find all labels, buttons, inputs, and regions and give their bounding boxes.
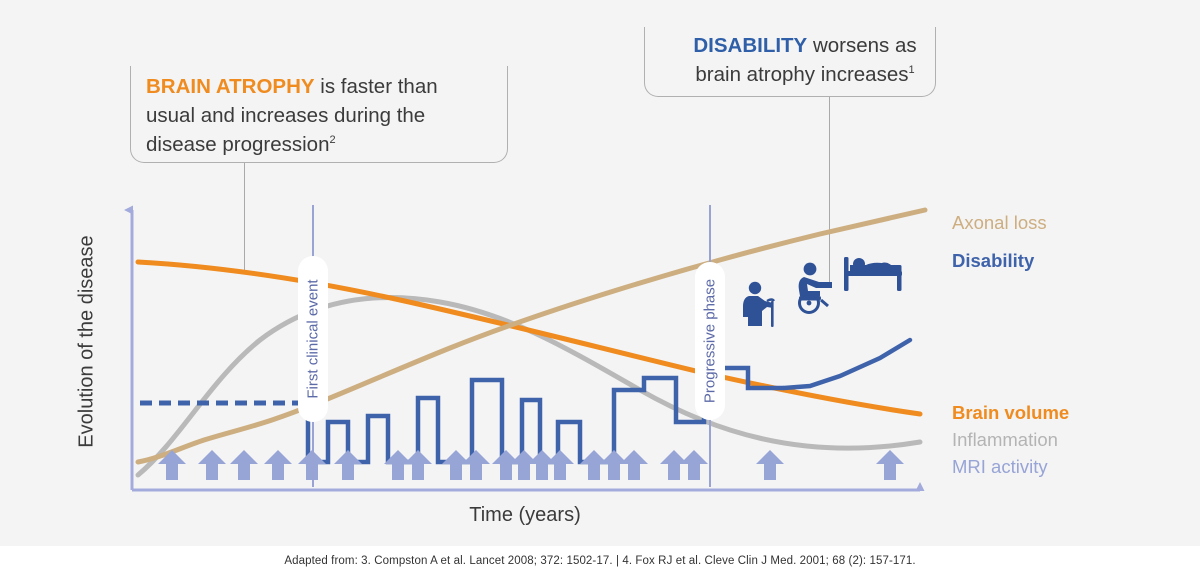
mri-arrow	[510, 450, 538, 480]
mri-arrow	[680, 450, 708, 480]
footer-bar: Adapted from: 3. Compston A et al. Lance…	[0, 546, 1200, 584]
pictogram-person-with-cane	[740, 281, 782, 327]
phase-marker-first-clinical-event-label: First clinical event	[305, 279, 322, 398]
mri-arrow	[384, 450, 412, 480]
legend-item-brain-volume: Brain volume	[952, 402, 1069, 424]
mri-arrow	[404, 450, 432, 480]
mri-arrow	[198, 450, 226, 480]
mri-arrow	[334, 450, 362, 480]
mri-arrow-group	[158, 450, 904, 480]
pictogram-bedridden-person	[842, 252, 904, 292]
callout-disability-superscript: 1	[908, 64, 914, 76]
mri-arrow	[230, 450, 258, 480]
callout-disability-text: DISABILITY worsens as brain atrophy incr…	[660, 31, 950, 89]
callout-brain-atrophy-text: BRAIN ATROPHY is faster than usual and i…	[146, 72, 516, 159]
figure-area: BRAIN ATROPHY is faster than usual and i…	[0, 0, 1200, 546]
callout-disability-line1: worsens as	[807, 34, 916, 57]
mri-arrow	[528, 450, 556, 480]
mri-arrow	[264, 450, 292, 480]
mri-arrow	[462, 450, 490, 480]
callout-brain-atrophy-line1: is faster than	[315, 75, 438, 98]
phase-marker-progressive-phase: Progressive phase	[695, 262, 725, 420]
callout-brain-atrophy-superscript: 2	[329, 134, 335, 146]
legend-item-axonal-loss: Axonal loss	[952, 212, 1047, 234]
mri-arrow	[600, 450, 628, 480]
mri-arrow	[620, 450, 648, 480]
callout-disability-keyword: DISABILITY	[693, 34, 807, 57]
mri-arrow	[876, 450, 904, 480]
series-disability-progressive	[784, 340, 910, 388]
callout-brain-atrophy-line3: disease progression	[146, 133, 329, 156]
mri-arrow	[442, 450, 470, 480]
legend-item-disability: Disability	[952, 250, 1034, 272]
callout-brain-atrophy-keyword: BRAIN ATROPHY	[146, 75, 315, 98]
mri-arrow	[756, 450, 784, 480]
diagram-page: BRAIN ATROPHY is faster than usual and i…	[0, 0, 1200, 584]
mri-arrow	[546, 450, 574, 480]
x-axis-label: Time (years)	[360, 504, 690, 527]
legend-item-mri-activity: MRI activity	[952, 456, 1048, 478]
mri-arrow	[492, 450, 520, 480]
callout-disability-line2: brain atrophy increases	[695, 63, 908, 86]
legend-item-inflammation: Inflammation	[952, 429, 1058, 451]
series-axonal-loss-line	[138, 210, 925, 462]
phase-marker-progressive-phase-label: Progressive phase	[702, 279, 719, 403]
pictogram-wheelchair-user	[790, 262, 838, 314]
y-axis-label: Evolution of the disease	[76, 207, 99, 477]
mri-activity-arrow-row	[120, 448, 940, 482]
callout-brain-atrophy-line2: usual and increases during the	[146, 104, 425, 127]
mri-arrow	[158, 450, 186, 480]
phase-marker-first-clinical-event: First clinical event	[298, 256, 328, 422]
mri-arrow	[660, 450, 688, 480]
footer-citation: Adapted from: 3. Compston A et al. Lance…	[0, 555, 1200, 567]
mri-arrow	[580, 450, 608, 480]
